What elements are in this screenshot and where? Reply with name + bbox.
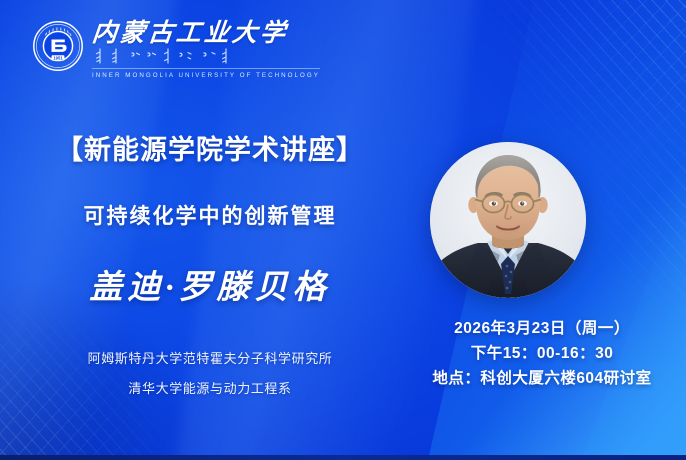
lecture-poster: 1951 内蒙古工业大学 <box>0 0 686 460</box>
speaker-affiliation-line-2: 清华大学能源与动力工程系 <box>0 378 420 397</box>
lecture-topic-title: 可持续化学中的创新管理 <box>0 200 420 230</box>
speaker-affiliation-line-1: 阿姆斯特丹大学范特霍夫分子科学研究所 <box>0 348 420 367</box>
university-name-cn: 内蒙古工业大学 <box>91 21 322 46</box>
speaker-portrait <box>430 142 586 298</box>
svg-text:1951: 1951 <box>53 55 63 60</box>
university-name-mongolian-script <box>92 48 320 65</box>
event-venue: 地点：科创大厦六楼604研讨室 <box>398 366 686 391</box>
event-info-block: 2026年3月23日（周一） 下午15：00-16：30 地点：科创大厦六楼60… <box>398 316 686 391</box>
university-logo-text: 内蒙古工业大学 INNER MONGOLIA UNIVERSITY OF <box>92 20 320 79</box>
bottom-edge-strip <box>0 455 686 460</box>
speaker-name: 盖迪·罗滕贝格 <box>0 260 420 308</box>
event-time: 下午15：00-16：30 <box>398 341 686 366</box>
university-seal-icon: 1951 <box>32 20 84 72</box>
university-logo: 1951 内蒙古工业大学 <box>32 20 320 79</box>
university-name-en: INNER MONGOLIA UNIVERSITY OF TECHNOLOGY <box>92 68 320 79</box>
event-date: 2026年3月23日（周一） <box>398 316 686 341</box>
lecture-series-headline: 【新能源学院学术讲座】 <box>0 128 420 167</box>
